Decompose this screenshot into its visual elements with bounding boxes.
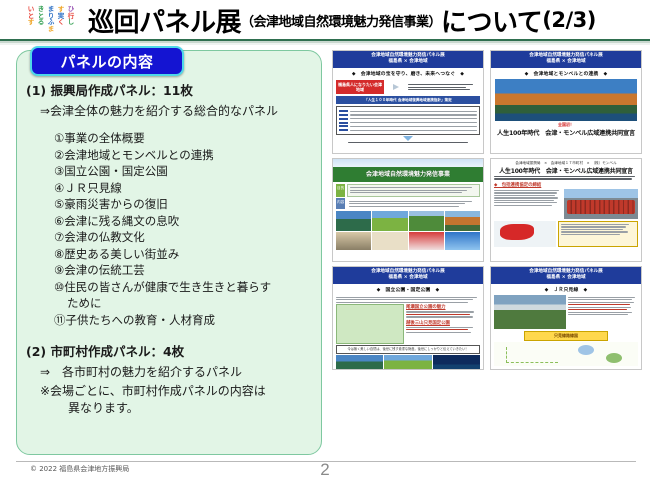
section-badge: パネルの内容 bbox=[30, 46, 184, 76]
map-label: 只見線路線図 bbox=[524, 331, 608, 341]
poster-section-heading: ◆ 包括連携協定の締結 bbox=[494, 182, 638, 188]
poster-meta-line: 会津地域振興局 × 会津地域１７市町村 × （株）モンベル bbox=[494, 161, 638, 166]
panel-titles-list: ①事業の全体概要 ②会津地域とモンベルとの連携 ③国立公園・国定公園 ④ＪＲ只見… bbox=[54, 130, 318, 328]
mountain-photo bbox=[372, 211, 407, 231]
poster-header: 会津地域自然環境魅力発信パネル展 福島県 × 会津地域 bbox=[491, 267, 641, 284]
poster-thumbnail-grid: 会津地域自然環境魅力発信パネル展 福島県 × 会津地域 ◆ 会津地域の宝を守り、… bbox=[332, 50, 644, 460]
item2-note-line2: 異なります。 bbox=[68, 399, 318, 416]
logo-char: く bbox=[56, 19, 66, 26]
logo-char: し bbox=[66, 19, 76, 26]
night-sky-photo bbox=[433, 355, 480, 370]
fukushima-pref-logo: い き ま す ひ と と り 実 行 す る ふ く し ま bbox=[22, 4, 80, 34]
section-heading-2: 越後三山只見国定公園 bbox=[406, 320, 480, 326]
tag-purpose: 目的 bbox=[336, 184, 345, 197]
poster-body: 只見線路線図 bbox=[491, 295, 641, 366]
list-item: ①事業の全体概要 bbox=[54, 130, 318, 147]
poster-header: 会津地域自然環境魅力発信パネル展 福島県 × 会津地域 bbox=[333, 51, 483, 68]
poster-header-green: 会津地域自然環境魅力発信事業 bbox=[333, 167, 483, 182]
panel-content-list: (1) 振興局作成パネル：11枚 ⇒会津全体の魅力を紹介する総合的なパネル ①事… bbox=[26, 80, 318, 418]
list-item-line1: ⑩住民の皆さんが健康で生き生きと暮らす bbox=[54, 280, 271, 294]
poster-list-frame bbox=[336, 106, 480, 135]
logo-char: ま bbox=[46, 26, 56, 33]
poster-big-title: 人生100年時代 会津・モンベル広域連携共同宣言 bbox=[491, 128, 641, 137]
logo-char: す bbox=[26, 19, 36, 26]
poster-body: 尾瀬国立公園の魅力 越後三山只見国定公園 今は無く美しい自然は、後世に残す貴重な… bbox=[333, 297, 483, 370]
poster-body: 会津地域振興局 × 会津地域１７市町村 × （株）モンベル 人生100年時代 会… bbox=[491, 159, 641, 247]
poster-banner: 「人生１００年時代 会津地域復興地域連携指針」策定 bbox=[336, 96, 480, 104]
shrine-photo bbox=[445, 211, 480, 231]
poster-header-line2: 福島県 × 会津地域 bbox=[333, 59, 483, 65]
lacquer-photo bbox=[372, 232, 407, 250]
poster-body: 目的 内容 bbox=[333, 182, 483, 250]
marsh-photo bbox=[384, 355, 431, 370]
title-main-text: 巡回パネル展 bbox=[88, 2, 241, 39]
poster-subtitle: ◆ 国立公園・国定公園 ◆ bbox=[333, 284, 483, 296]
item2-heading: (2) 市町村作成パネル：4枚 bbox=[26, 341, 318, 360]
poster-thumbnail-national-park[interactable]: 会津地域自然環境魅力発信パネル展 福島県 × 会津地域 ◆ 国立公園・国定公園 … bbox=[332, 266, 484, 370]
page-number: 2 bbox=[0, 460, 650, 480]
aizu-park-map bbox=[336, 304, 404, 344]
forest-photo bbox=[409, 211, 444, 231]
slide-header: い き ま す ひ と と り 実 行 す る ふ く し ま 巡回パネル展（会… bbox=[0, 0, 650, 40]
poster-header: 会津地域自然環境魅力発信パネル展 福島県 × 会津地域 bbox=[491, 51, 641, 68]
craft-photo bbox=[336, 232, 371, 250]
poster-thumbnail-tadami-line[interactable]: 会津地域自然環境魅力発信パネル展 福島県 × 会津地域 ◆ ＪＲ只見線 ◆ 只見… bbox=[490, 266, 642, 370]
item1-heading: (1) 振興局作成パネル：11枚 bbox=[26, 80, 318, 99]
arrow-down-icon bbox=[403, 136, 413, 141]
poster-header: 会津地域自然環境魅力発信パネル展 福島県 × 会津地域 bbox=[333, 267, 483, 284]
item1-subtext: ⇒会津全体の魅力を紹介する総合的なパネル bbox=[40, 102, 318, 119]
akabeko-photo bbox=[409, 232, 444, 250]
poster-body: 福島県人になりたい会津地域 「人生１００年時代 会津地域復興地域連携指針」策定 bbox=[333, 80, 483, 143]
poster-thumbnail-montbell[interactable]: 会津地域自然環境魅力発信パネル展 福島県 × 会津地域 ◆ 会津地域とモンベルと… bbox=[490, 50, 642, 154]
list-item-line2: ために bbox=[67, 295, 318, 312]
list-item: ⑧歴史ある美しい街並み bbox=[54, 246, 318, 263]
poster-big-title: 人生100年時代 会津・モンベル広域連携共同宣言 bbox=[494, 166, 638, 175]
arrow-right-icon bbox=[393, 84, 399, 90]
poster-subtitle: ◆ 会津地域とモンベルとの連携 ◆ bbox=[491, 68, 641, 80]
list-item: ④ＪＲ只見線 bbox=[54, 180, 318, 197]
title-page-ref: (2/3) bbox=[542, 8, 596, 32]
title-suffix: について bbox=[441, 2, 542, 39]
lake-photo bbox=[336, 355, 383, 370]
poster-footer-band: 今は無く美しい自然は、後世に残す貴重な財産。後世にしっかりと伝えていきたい！ bbox=[338, 347, 478, 352]
poster-header-line2: 福島県 × 会津地域 bbox=[491, 59, 641, 65]
list-item: ⑪子供たちへの教育・人材育成 bbox=[54, 312, 318, 329]
group-photo-red-jackets bbox=[564, 189, 638, 219]
autumn-gorge-photo bbox=[495, 79, 637, 121]
tadami-rail-map bbox=[494, 342, 638, 366]
poster-header-line2: 福島県 × 会津地域 bbox=[491, 275, 641, 281]
poster-thumbnail-overview[interactable]: 会津地域自然環境魅力発信パネル展 福島県 × 会津地域 ◆ 会津地域の宝を守り、… bbox=[332, 50, 484, 154]
item2-subtext: ⇒ 各市町村の魅力を紹介するパネル bbox=[40, 363, 318, 380]
header-divider-shadow bbox=[0, 43, 650, 45]
list-item: ③国立公園・国定公園 bbox=[54, 163, 318, 180]
poster-thumbnail-project[interactable]: 会津地域自然環境魅力発信事業 目的 内容 bbox=[332, 158, 484, 262]
item2-note-line1: ※会場ごとに、市町村作成パネルの内容は bbox=[40, 384, 266, 398]
castle-photo bbox=[336, 211, 371, 231]
section-heading-1: 尾瀬国立公園の魅力 bbox=[406, 304, 480, 310]
tag-content: 内容 bbox=[336, 198, 345, 209]
poster-header-line2: 福島県 × 会津地域 bbox=[333, 275, 483, 281]
landscape-photo bbox=[445, 232, 480, 250]
page-title: 巡回パネル展（会津地域自然環境魅力発信事業）について(2/3) bbox=[88, 2, 648, 38]
item2-note: ※会場ごとに、市町村作成パネルの内容は 異なります。 bbox=[40, 382, 318, 416]
poster-subtitle: ◆ 会津地域の宝を守り、磨き、未来へつなぐ ◆ bbox=[333, 68, 483, 80]
aizu-region-map bbox=[494, 221, 556, 247]
list-item: ⑤豪雨災害からの復旧 bbox=[54, 196, 318, 213]
list-item: ⑥会津に残る縄文の息吹 bbox=[54, 213, 318, 230]
logo-char: る bbox=[36, 19, 46, 26]
list-item: ②会津地域とモンベルとの連携 bbox=[54, 147, 318, 164]
list-item: ⑩住民の皆さんが健康で生き生きと暮らす ために bbox=[54, 279, 318, 312]
poster-subtitle: ◆ ＪＲ只見線 ◆ bbox=[491, 284, 641, 296]
tadami-line-train-photo bbox=[494, 295, 566, 329]
list-item: ⑨会津の伝統工芸 bbox=[54, 262, 318, 279]
callout-text-block bbox=[408, 83, 480, 92]
title-parenthetical: （会津地域自然環境魅力発信事業） bbox=[241, 11, 441, 30]
red-callout-box: 福島県人になりたい会津地域 bbox=[336, 80, 384, 94]
poster-thumbnail-montbell-detail[interactable]: 会津地域振興局 × 会津地域１７市町村 × （株）モンベル 人生100年時代 会… bbox=[490, 158, 642, 262]
list-item: ⑦会津の仏教文化 bbox=[54, 229, 318, 246]
